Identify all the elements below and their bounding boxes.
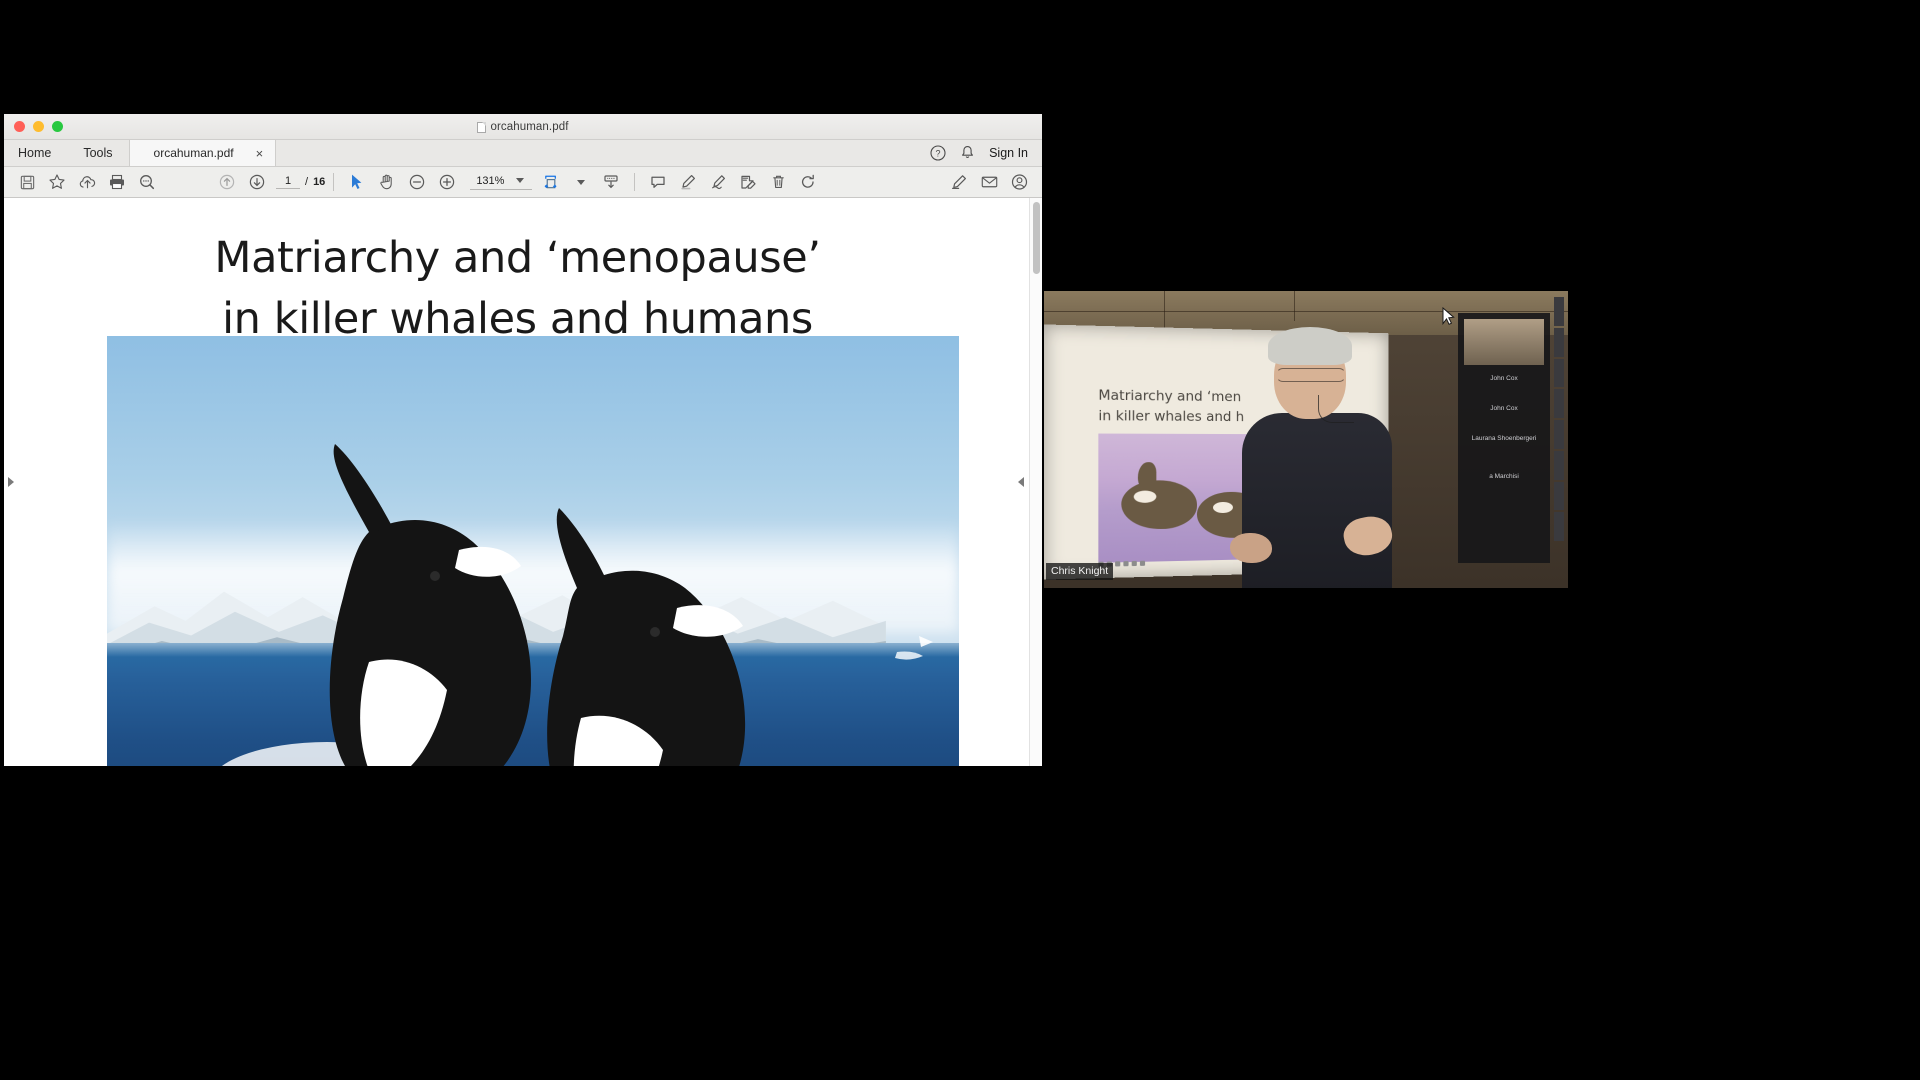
lecture-room-background: Matriarchy and ‘men in killer whales and… (1044, 291, 1568, 588)
save-icon[interactable] (12, 169, 42, 195)
toolbar-divider-2 (634, 173, 635, 191)
webcam-video-panel[interactable]: Matriarchy and ‘men in killer whales and… (1044, 291, 1568, 588)
tab-document-label: orcahuman.pdf (154, 146, 234, 160)
tab-home[interactable]: Home (4, 140, 67, 166)
pdf-page[interactable]: Matriarchy and ‘menopause’ in killer wha… (20, 198, 1015, 766)
page-total: 16 (313, 176, 325, 188)
search-zoom-icon[interactable] (132, 169, 162, 195)
right-panel-handle[interactable] (1015, 198, 1029, 766)
presenter-left-hand (1230, 533, 1272, 563)
zoom-level-value: 131% (476, 175, 504, 187)
tab-strip: Home Tools orcahuman.pdf × ? (4, 140, 1042, 167)
participant-name-4: a Marchisi (1458, 473, 1550, 480)
fit-page-icon[interactable] (536, 169, 566, 195)
presenter-figure (1226, 321, 1441, 588)
participant-name-tag: Chris Knight (1046, 563, 1113, 580)
screen-root: orcahuman.pdf Home Tools orcahuman.pdf ×… (0, 0, 1920, 1080)
slide-title-line-1: Matriarchy and ‘menopause’ (20, 228, 1015, 289)
window-title: orcahuman.pdf (4, 121, 1042, 133)
svg-text:?: ? (936, 148, 941, 158)
window-titlebar: orcahuman.pdf (4, 114, 1042, 140)
presenter-torso (1242, 413, 1392, 588)
select-cursor-icon[interactable] (342, 169, 372, 195)
document-icon (477, 122, 486, 133)
star-icon[interactable] (42, 169, 72, 195)
presenter-microphone (1318, 395, 1354, 423)
insert-page-icon[interactable] (596, 169, 626, 195)
tab-tools-label: Tools (83, 146, 112, 160)
highlight-icon[interactable] (673, 169, 703, 195)
expand-right-panel-icon[interactable] (1018, 477, 1024, 487)
slide-title: Matriarchy and ‘menopause’ in killer wha… (20, 228, 1015, 350)
sign-in-button[interactable]: Sign In (989, 146, 1028, 160)
page-down-icon[interactable] (242, 169, 272, 195)
tabstrip-right-group: ? Sign In (930, 140, 1042, 166)
presenter-glasses (1276, 368, 1346, 382)
participant-name-3: Laurana Shoenbergeri (1458, 435, 1550, 442)
participant-sidebar: John Cox John Cox Laurana Shoenbergeri a… (1458, 313, 1550, 563)
zoom-out-icon[interactable] (402, 169, 432, 195)
pdf-toolbar: 1 / 16 (4, 167, 1042, 198)
share-edit-icon[interactable] (944, 169, 974, 195)
orca-photo (107, 336, 959, 766)
bell-icon[interactable] (960, 145, 975, 161)
document-viewport: Matriarchy and ‘menopause’ in killer wha… (4, 198, 1042, 766)
email-icon[interactable] (974, 169, 1004, 195)
page-indicator: 1 / 16 (276, 175, 325, 189)
left-panel-handle[interactable] (4, 198, 20, 766)
participant-name-2: John Cox (1458, 405, 1550, 412)
expand-left-panel-icon[interactable] (8, 477, 14, 487)
zoom-in-icon[interactable] (432, 169, 462, 195)
help-circle-icon[interactable]: ? (930, 145, 946, 161)
participant-thumbnail (1464, 319, 1544, 365)
page-separator: / (305, 176, 308, 188)
chevron-down-icon[interactable] (566, 169, 596, 195)
tab-document-orcahuman[interactable]: orcahuman.pdf × (129, 140, 277, 166)
hand-tool-icon[interactable] (372, 169, 402, 195)
presenter-hair (1268, 327, 1352, 365)
comment-icon[interactable] (643, 169, 673, 195)
stamp-icon[interactable] (733, 169, 763, 195)
page-up-icon[interactable] (212, 169, 242, 195)
trash-icon[interactable] (763, 169, 793, 195)
cloud-upload-icon[interactable] (72, 169, 102, 195)
pdf-reader-window: orcahuman.pdf Home Tools orcahuman.pdf ×… (4, 114, 1042, 766)
rotate-icon[interactable] (793, 169, 823, 195)
breaching-orcas (107, 336, 959, 766)
account-icon[interactable] (1004, 169, 1034, 195)
vertical-scrollbar[interactable] (1029, 198, 1042, 766)
scrollbar-thumb[interactable] (1033, 202, 1040, 274)
mouse-cursor-icon (1442, 307, 1456, 327)
tab-home-label: Home (18, 146, 51, 160)
zoom-level-selector[interactable]: 131% (470, 175, 532, 190)
window-title-text: orcahuman.pdf (490, 121, 568, 133)
toolbar-divider-1 (333, 173, 334, 191)
close-tab-icon[interactable]: × (256, 147, 264, 160)
chevron-down-icon[interactable] (516, 178, 524, 183)
print-icon[interactable] (102, 169, 132, 195)
page-number-input[interactable]: 1 (276, 175, 300, 189)
participant-name-1: John Cox (1458, 375, 1550, 382)
participant-thumb-strip (1554, 297, 1564, 541)
tab-tools[interactable]: Tools (67, 140, 128, 166)
signature-icon[interactable] (703, 169, 733, 195)
toolbar-right-group (944, 169, 1034, 195)
